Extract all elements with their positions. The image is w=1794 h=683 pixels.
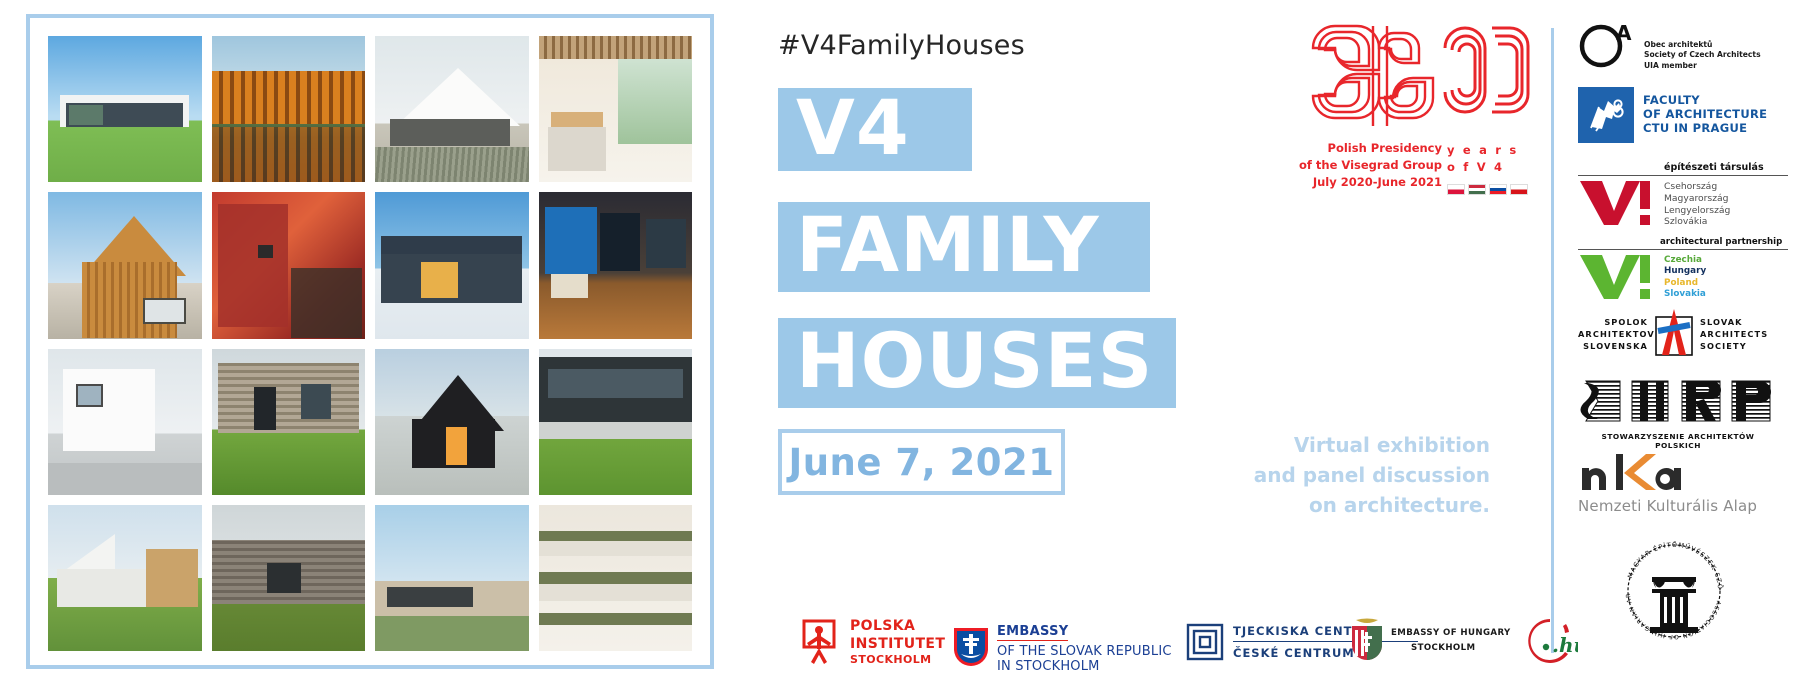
polska-line-3: STOCKHOLM [850, 653, 945, 667]
flag-poland [1447, 184, 1465, 195]
logo-nemzeti-kulturalis-alap: Nemzeti Kulturális Alap [1578, 452, 1788, 515]
photo-tile [539, 505, 693, 651]
oa-line-1: Obec architektů [1644, 40, 1761, 50]
ceske-centrum-spiral-icon [1185, 622, 1225, 662]
photo-tile [375, 349, 529, 495]
hungary-coat-of-arms-icon [1350, 618, 1384, 662]
visegrad-caption-line-3: July 2020-June 2021 [1313, 174, 1442, 191]
photo-tile [539, 349, 693, 495]
partner-embassy-of-hungary: EMBASSY OF HUNGARY STOCKHOLM [1350, 618, 1511, 662]
v4-red-country-2: Magyarország [1664, 193, 1730, 205]
title-line-v4: V4 [778, 88, 972, 171]
photo-tile [375, 192, 529, 338]
visegrad-years-label: y e a r s o f V 4 [1447, 142, 1518, 177]
ctu-line-1: FACULTY [1643, 94, 1767, 108]
event-subtitle: Virtual exhibition and panel discussion … [1070, 430, 1490, 520]
subtitle-line-2: and panel discussion [1070, 460, 1490, 490]
flag-czechia [1510, 184, 1528, 195]
visegrad-knot-icon [1295, 18, 1530, 140]
sas-right-1: SLOVAK [1700, 316, 1770, 328]
sas-left-3: SLOVENSKA [1578, 340, 1648, 352]
oa-circle-icon: A [1578, 20, 1636, 68]
seal-year: 1902 [1665, 583, 1683, 591]
sas-left-2: ARCHITEKTOV [1578, 328, 1648, 340]
v4-red-heading: építészeti társulás [1664, 162, 1788, 173]
dot-hu-label: .hu [1552, 633, 1578, 657]
hashtag-label: #V4FamilyHouses [778, 30, 1025, 61]
event-date: June 7, 2021 [788, 441, 1054, 484]
subtitle-line-3: on architecture. [1070, 490, 1490, 520]
partner-polska-institutet: POLSKA INSTITUTET STOCKHOLM [800, 618, 945, 667]
title-line-family: FAMILY [778, 202, 1150, 292]
hungary-embassy-line-1: EMBASSY OF HUNGARY [1391, 628, 1511, 638]
oa-line-3: UIA member [1644, 61, 1761, 71]
bottom-partner-row: POLSKA INSTITUTET STOCKHOLM EMBASSY OF T… [800, 612, 1540, 674]
ctu-line-2: OF ARCHITECTURE [1643, 108, 1767, 122]
photo-tile [539, 192, 693, 338]
dot-hu-brush-circle-icon: .hu [1522, 614, 1578, 668]
v4-red-country-1: Csehország [1664, 181, 1730, 193]
logo-v4-architectural-partnership: architectural partnership Czechia Hungar… [1578, 237, 1788, 301]
slovak-coat-of-arms-icon [952, 626, 990, 668]
photo-mosaic-frame [26, 14, 714, 669]
photo-tile [212, 192, 366, 338]
photo-tile [212, 505, 366, 651]
visegrad-caption-line-2: of the Visegrad Group [1299, 157, 1442, 174]
sarp-subtitle: STOWARZYSZENIE ARCHITEKTÓW POLSKICH [1578, 432, 1778, 450]
partner-logo-column: A Obec architektů Society of Czech Archi… [1578, 12, 1788, 677]
photo-tile [48, 349, 202, 495]
logo-faculty-of-architecture-ctu: FACULTY OF ARCHITECTURE CTU IN PRAGUE [1578, 87, 1788, 143]
subtitle-line-1: Virtual exhibition [1070, 430, 1490, 460]
polska-line-2: INSTITUTET [850, 636, 945, 654]
visegrad-30-logo: Polish Presidency of the Visegrad Group … [1295, 18, 1530, 198]
photo-tile [375, 505, 529, 651]
polska-institutet-icon [800, 619, 844, 665]
years-line-2: o f V 4 [1447, 159, 1518, 176]
oa-line-2: Society of Czech Architects [1644, 50, 1761, 60]
v4-red-country-4: Szlovákia [1664, 216, 1730, 228]
logo-sarp: STOWARZYSZENIE ARCHITEKTÓW POLSKICH [1578, 377, 1788, 450]
sas-right-3: SOCIETY [1700, 340, 1770, 352]
ctu-line-3: CTU IN PRAGUE [1643, 122, 1767, 136]
v4-green-country-1: Czechia [1664, 255, 1706, 266]
nka-subtitle: Nemzeti Kulturális Alap [1578, 497, 1788, 515]
photo-tile [212, 349, 366, 495]
sas-letter-a-icon [1652, 309, 1696, 359]
sas-right-2: ARCHITECTS [1700, 328, 1770, 340]
ctu-lion-icon [1578, 87, 1634, 143]
v4-red-country-3: Lengyelország [1664, 205, 1730, 217]
event-date-box: June 7, 2021 [778, 429, 1065, 495]
sarp-wordmark-icon [1578, 377, 1778, 425]
logo-association-of-hungarian-architects: MAGYAR ÉPÍTŐMŰVÉSZEK SZÖVETSÉGE ASSOCIAT… [1620, 537, 1794, 650]
photo-grid [48, 36, 692, 651]
v4-green-heading: architectural partnership [1660, 237, 1788, 247]
visegrad-caption-line-1: Polish Presidency [1328, 140, 1442, 157]
title-line-houses: HOUSES [778, 318, 1176, 408]
hungary-embassy-line-2: STOCKHOLM [1411, 643, 1511, 653]
photo-tile [48, 36, 202, 182]
vertical-divider [1551, 28, 1554, 653]
partner-dot-hu: .hu [1522, 614, 1578, 668]
partner-embassy-slovak-republic: EMBASSY OF THE SLOVAK REPUBLIC IN STOCKH… [952, 620, 1172, 674]
photo-tile [48, 505, 202, 651]
photo-tile [375, 36, 529, 182]
flag-hungary [1468, 184, 1486, 195]
nka-wordmark-icon [1578, 452, 1688, 494]
v4-green-mark-icon [1578, 253, 1656, 301]
svg-text:A: A [1616, 21, 1632, 45]
photo-tile [539, 36, 693, 182]
slovak-embassy-line-2: OF THE SLOVAK REPUBLIC [997, 644, 1172, 659]
logo-v4-epiteszeti-tarsulas: építészeti társulás Csehország Magyarors… [1578, 162, 1788, 228]
v4-green-country-2: Hungary [1664, 266, 1706, 277]
flag-slovakia [1489, 184, 1507, 195]
logo-society-of-czech-architects: A Obec architektů Society of Czech Archi… [1578, 20, 1788, 71]
slovak-embassy-line-3: IN STOCKHOLM [997, 659, 1172, 674]
years-line-1: y e a r s [1447, 142, 1518, 159]
visegrad-flag-row [1447, 184, 1528, 195]
sas-left-1: SPOLOK [1578, 316, 1648, 328]
polska-line-1: POLSKA [850, 618, 945, 636]
v4-red-mark-icon [1578, 179, 1656, 227]
slovak-embassy-line-1: EMBASSY [997, 624, 1068, 641]
v4-green-country-4: Slovakia [1664, 289, 1706, 300]
photo-tile [212, 36, 366, 182]
ionic-column-seal-icon: MAGYAR ÉPÍTŐMŰVÉSZEK SZÖVETSÉGE ASSOCIAT… [1620, 537, 1728, 645]
logo-slovak-architects-society: SPOLOK ARCHITEKTOV SLOVENSKA SLOVAK ARCH… [1578, 309, 1788, 359]
v4-green-country-3: Poland [1664, 278, 1706, 289]
photo-tile [48, 192, 202, 338]
